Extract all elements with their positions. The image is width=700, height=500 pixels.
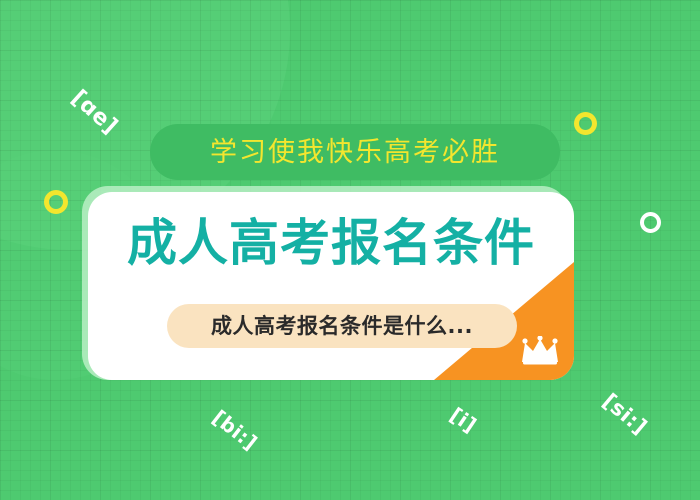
page-title: 成人高考报名条件: [88, 218, 574, 268]
phonetic-tag-si: [si:]: [598, 389, 652, 439]
subtitle-pill: 成人高考报名条件是什么...: [167, 304, 517, 348]
ring-yellow-left: [44, 190, 68, 214]
main-card: 成人高考报名条件 成人高考报名条件是什么...: [88, 192, 574, 380]
ring-white-right: [640, 212, 661, 233]
phonetic-tag-bi: [bi:]: [208, 405, 262, 455]
poster-canvas: [ɑe][bi:][i][si:] 学习使我快乐高考必胜 成人高考报名条件 成人…: [0, 0, 700, 500]
crown-icon: [520, 336, 560, 366]
subtitle-text: 成人高考报名条件是什么...: [211, 316, 473, 337]
banner-pill: 学习使我快乐高考必胜: [150, 124, 560, 180]
phonetic-tag-i: [i]: [446, 403, 482, 438]
banner-text: 学习使我快乐高考必胜: [210, 139, 500, 166]
ring-yellow-top: [574, 112, 597, 135]
